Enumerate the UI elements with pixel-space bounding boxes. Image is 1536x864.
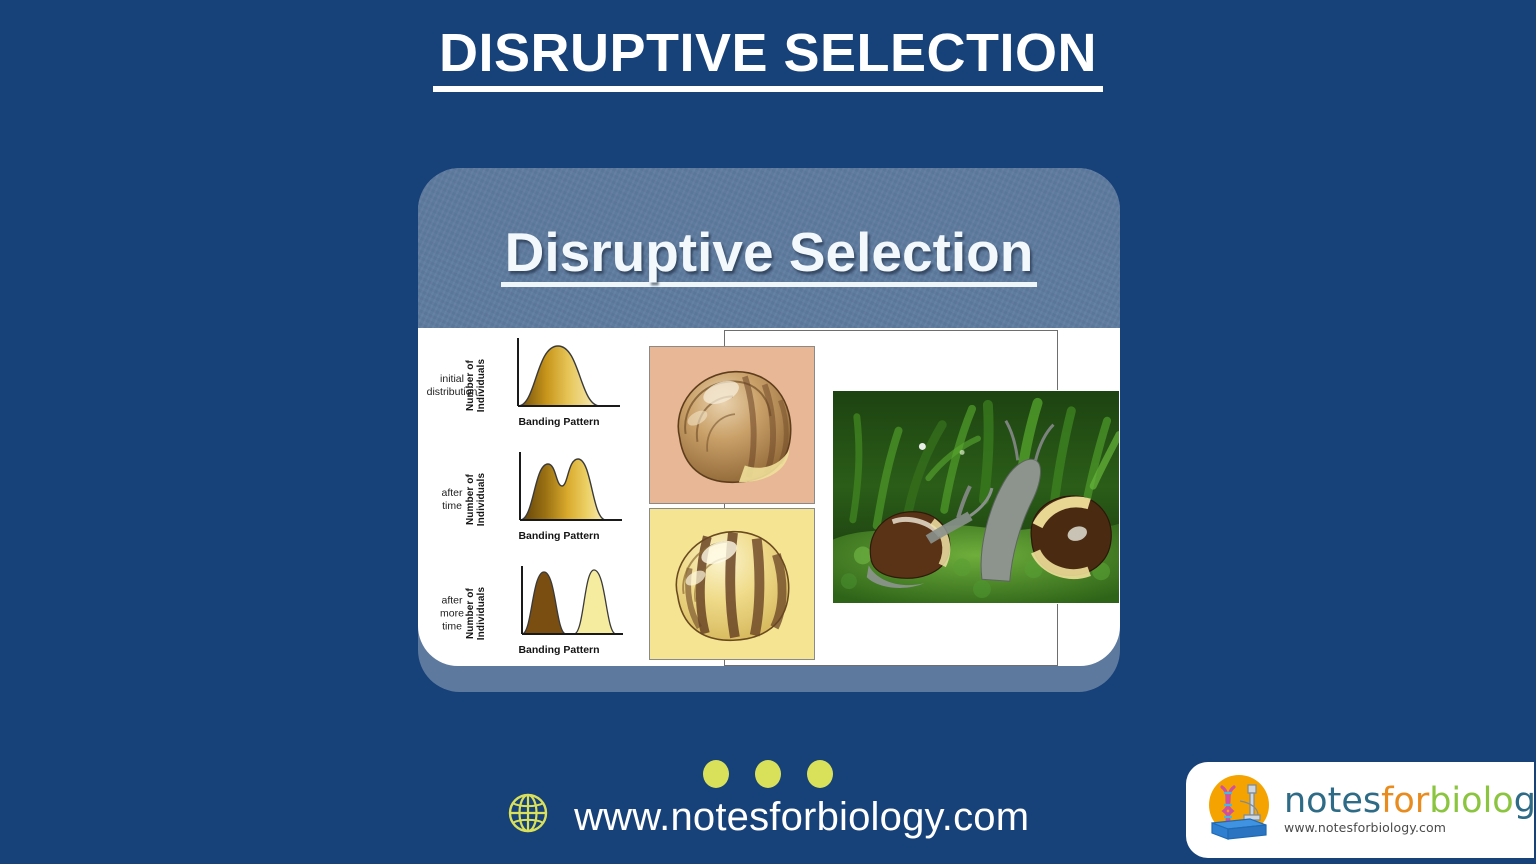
footer-site-url[interactable]: www.notesforbiology.com: [574, 795, 1029, 840]
logo-text: notesforbiology www.notesforbiology.com: [1284, 784, 1534, 837]
y-axis-label-initial: Number of Individuals: [465, 343, 487, 429]
x-axis-label-after-more-time: Banding Pattern: [488, 644, 630, 656]
slide-card: Disruptive Selection initial distributio…: [418, 168, 1120, 692]
logo-subtitle: www.notesforbiology.com: [1284, 820, 1446, 835]
footer-dot-3: [807, 760, 833, 788]
y-axis-label-after-time: Number of Individuals: [465, 457, 487, 543]
x-axis-label-after-time: Banding Pattern: [488, 530, 630, 542]
page-title: DISRUPTIVE SELECTION: [0, 22, 1536, 92]
graph-panel-initial: initial distribution Number of Individua…: [418, 330, 643, 442]
shell-image-light-morph: [649, 508, 815, 660]
snails-on-moss-photo: [832, 390, 1120, 604]
logo-badge[interactable]: notesforbiology www.notesforbiology.com: [1186, 762, 1534, 858]
logo-word-for: for: [1381, 781, 1429, 821]
logo-word-gy: gy: [1514, 781, 1534, 821]
plot-initial: [496, 336, 624, 414]
logo-word-biolo: biolo: [1429, 781, 1514, 821]
plot-after-time: [496, 450, 624, 528]
notesforbiology-logo-icon: [1200, 771, 1278, 849]
plot-after-more-time: [496, 564, 624, 642]
globe-icon: [507, 792, 549, 844]
logo-word-notes: notes: [1284, 781, 1381, 821]
card-body: initial distribution Number of Individua…: [418, 328, 1120, 666]
page-title-text: DISRUPTIVE SELECTION: [433, 25, 1103, 92]
footer-dot-1: [703, 760, 729, 788]
distribution-graphs: initial distribution Number of Individua…: [418, 328, 643, 666]
card-title: Disruptive Selection: [418, 220, 1120, 287]
logo-wordmark: notesforbiology: [1284, 781, 1534, 821]
x-axis-label-initial: Banding Pattern: [488, 416, 630, 428]
footer-dot-2: [755, 760, 781, 788]
graph-panel-after-time: after time Number of Individuals: [418, 444, 643, 556]
graph-panel-after-more-time: after more time Number of Individuals: [418, 558, 643, 666]
slide-page: DISRUPTIVE SELECTION Disruptive Selectio…: [0, 0, 1536, 864]
y-axis-label-after-more-time: Number of Individuals: [465, 571, 487, 657]
card-title-text: Disruptive Selection: [501, 224, 1038, 287]
shell-image-dark-morph: [649, 346, 815, 504]
